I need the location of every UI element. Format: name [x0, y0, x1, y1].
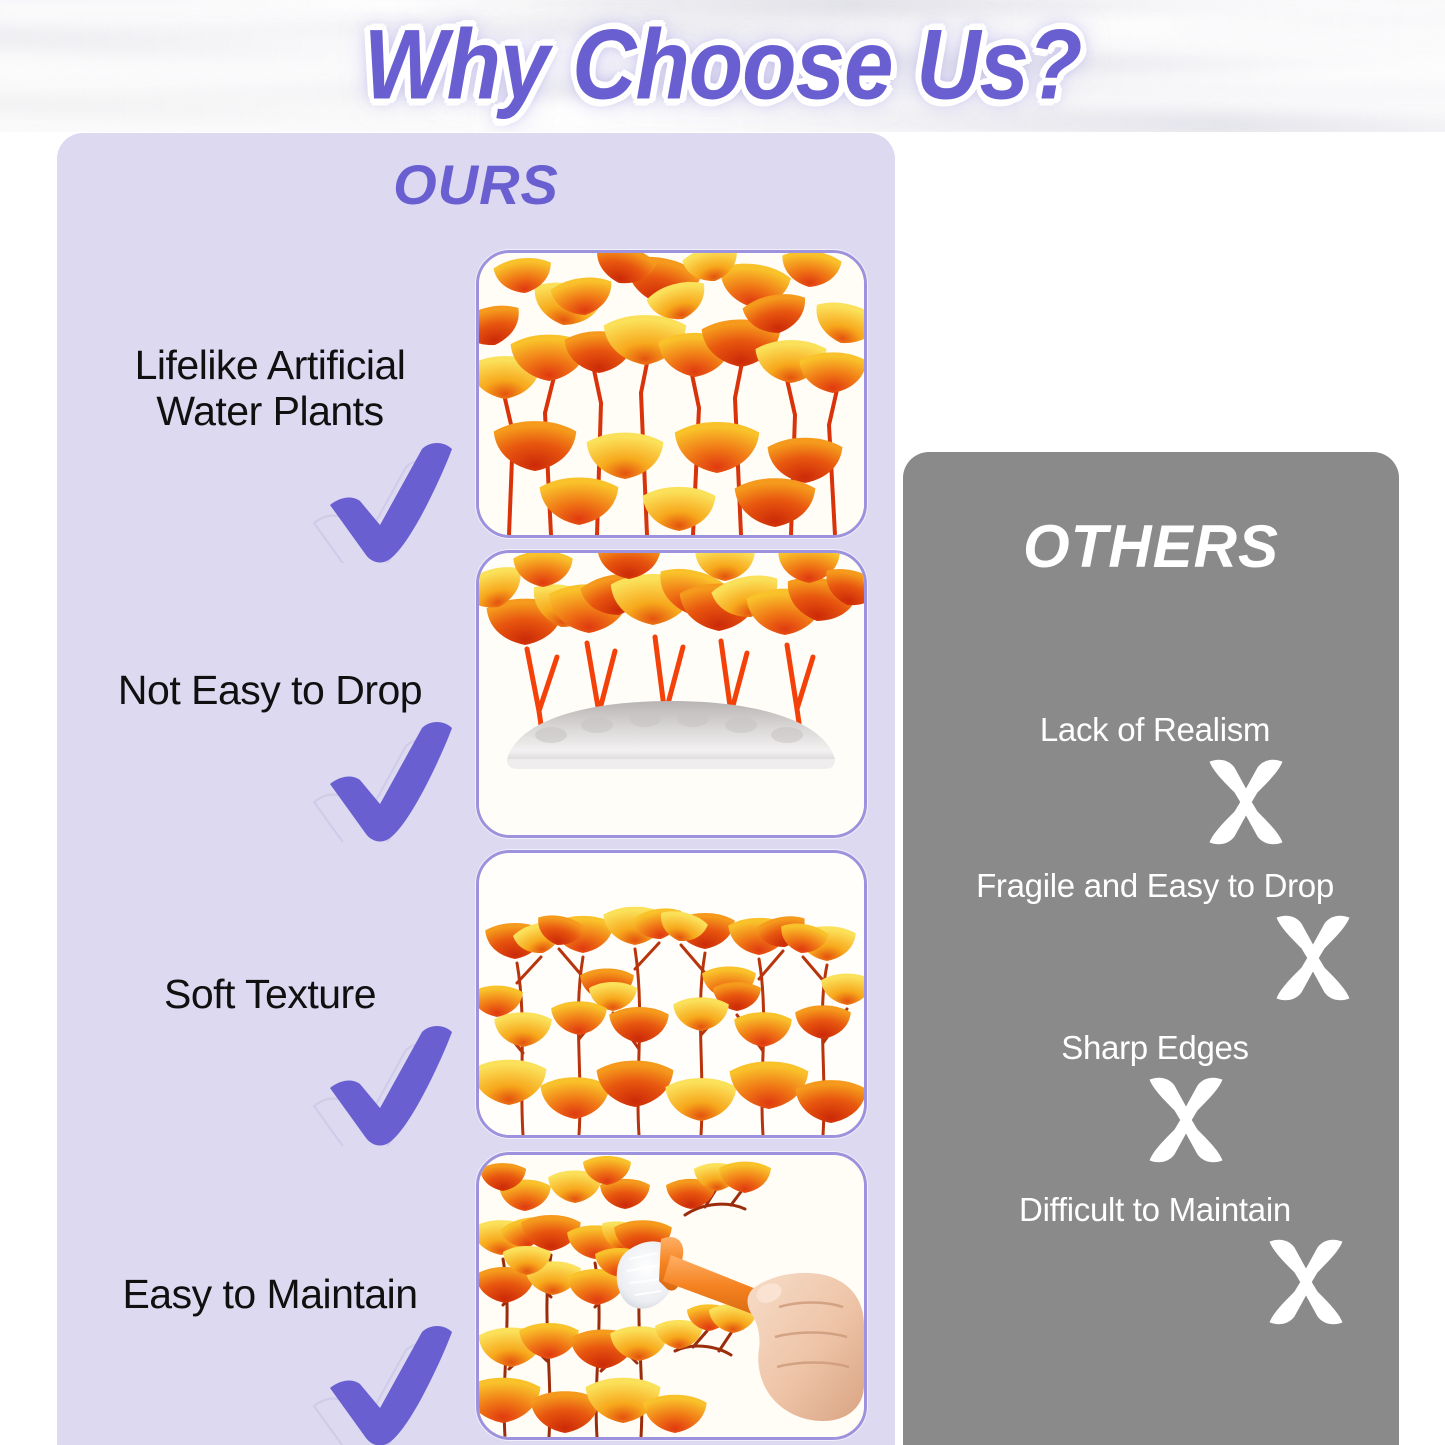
check-icon [294, 722, 464, 842]
photo-plants-on-base [476, 550, 867, 838]
others-item-1-label: Lack of Realism [920, 712, 1390, 748]
photo-cleaning-with-brush-art [479, 1155, 864, 1437]
ours-feature-4-label: Easy to Maintain [70, 1272, 470, 1318]
others-item-3-mark [920, 1066, 1390, 1166]
check-icon [294, 443, 464, 563]
photo-dense-plants [476, 250, 867, 538]
ours-feature-3-mark [70, 1026, 470, 1146]
header-title-wrap: Why Choose Us? [0, 4, 1445, 124]
others-item-2: Fragile and Easy to Drop [920, 868, 1390, 1004]
ours-feature-1-mark [70, 443, 470, 563]
ours-feature-4-mark [70, 1326, 470, 1445]
check-icon [294, 1326, 464, 1445]
ours-feature-2-label: Not Easy to Drop [70, 668, 470, 714]
others-item-1: Lack of Realism [920, 712, 1390, 848]
ours-feature-1: Lifelike Artificial Water Plants [70, 343, 470, 563]
cross-icon [1258, 1234, 1354, 1330]
others-item-3: Sharp Edges [920, 1030, 1390, 1166]
photo-plants-on-base-art [479, 553, 864, 835]
ours-feature-2: Not Easy to Drop [70, 668, 470, 842]
ours-feature-3-label: Soft Texture [70, 972, 470, 1018]
cross-icon [1265, 910, 1361, 1006]
others-item-4: Difficult to Maintain [920, 1192, 1390, 1328]
others-item-1-mark [920, 748, 1390, 848]
page-title: Why Choose Us? [364, 14, 1082, 114]
others-item-4-label: Difficult to Maintain [920, 1192, 1390, 1228]
others-item-3-label: Sharp Edges [920, 1030, 1390, 1066]
photo-plants-spread-art [479, 853, 864, 1135]
photo-cleaning-with-brush [476, 1152, 867, 1440]
cross-icon [1138, 1072, 1234, 1168]
others-item-4-mark [920, 1228, 1390, 1328]
ours-feature-4: Easy to Maintain [70, 1272, 470, 1445]
ours-feature-2-mark [70, 722, 470, 842]
header-banner: Why Choose Us? [0, 0, 1445, 132]
ours-feature-3: Soft Texture [70, 972, 470, 1146]
photo-dense-plants-art [479, 253, 864, 535]
others-heading: OTHERS [903, 512, 1399, 581]
check-icon [294, 1026, 464, 1146]
cross-icon [1198, 754, 1294, 850]
ours-heading: OURS [57, 152, 895, 217]
ours-feature-1-label: Lifelike Artificial Water Plants [70, 343, 470, 435]
others-item-2-label: Fragile and Easy to Drop [920, 868, 1390, 904]
photo-plants-spread [476, 850, 867, 1138]
infographic-canvas: Why Choose Us? OURS Lifelike Artificial … [0, 0, 1445, 1445]
others-item-2-mark [920, 904, 1390, 1004]
